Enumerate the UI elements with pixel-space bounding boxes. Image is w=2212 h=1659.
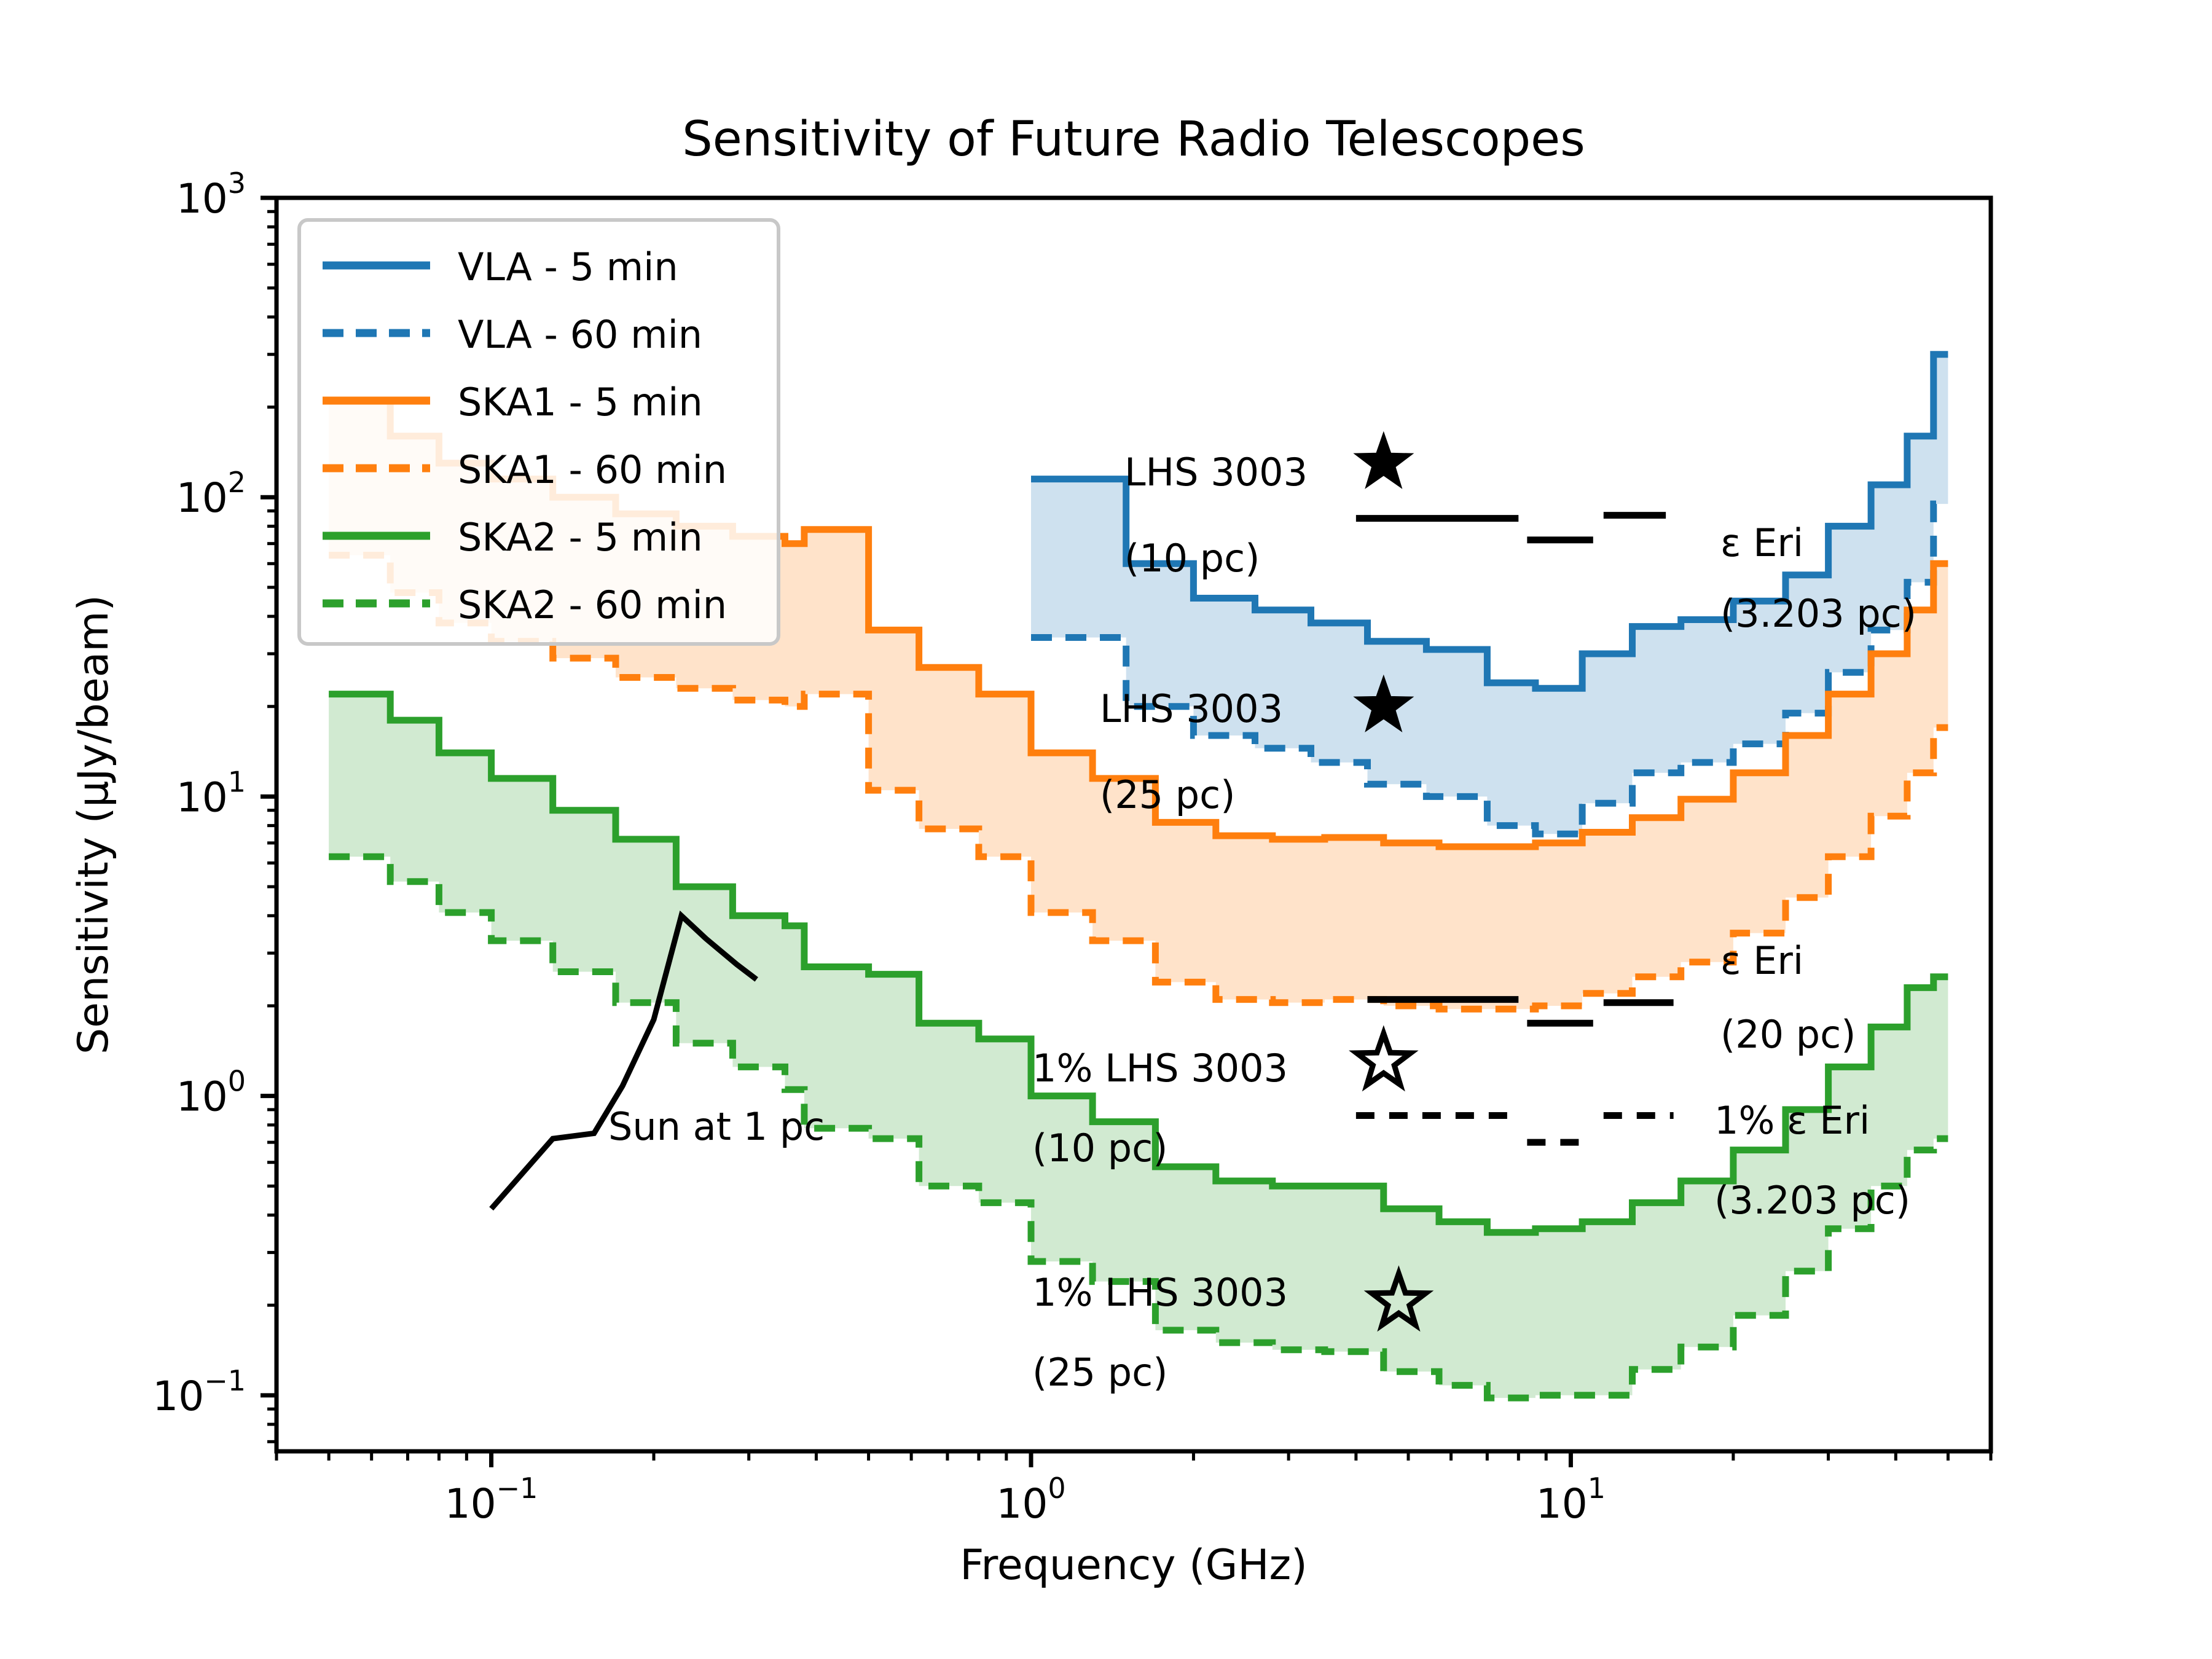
legend-label: VLA - 60 min — [458, 312, 702, 357]
annotation-pct1-lhs3003-25pc-sub: (25 pc) — [1032, 1350, 1167, 1395]
annotation-eps-eri-3203pc-sub: (3.203 pc) — [1720, 591, 1916, 636]
annotation-pct1-eps-eri-3203pc-sub: (3.203 pc) — [1714, 1178, 1910, 1223]
legend[interactable]: VLA - 5 minVLA - 60 minSKA1 - 5 minSKA1 … — [299, 220, 779, 644]
legend-label: SKA1 - 60 min — [458, 447, 727, 492]
legend-label: SKA1 - 5 min — [458, 380, 703, 425]
x-axis-label: Frequency (GHz) — [960, 1541, 1307, 1590]
annotation-pct1-lhs3003-25pc: 1% LHS 3003 — [1032, 1270, 1288, 1315]
annotation-sun-at-1pc: Sun at 1 pc — [608, 1104, 825, 1149]
annotation-eps-eri-20pc-sub: (20 pc) — [1720, 1012, 1856, 1057]
chart-canvas: Sensitivity of Future Radio Telescopes 1… — [0, 0, 2212, 1659]
annotation-lhs3003-10pc-sub: (10 pc) — [1124, 536, 1260, 581]
annotation-lhs3003-25pc-sub: (25 pc) — [1100, 772, 1235, 817]
legend-label: VLA - 5 min — [458, 245, 678, 289]
y-axis-label: Sensitivity (μJy/beam) — [69, 595, 118, 1054]
annotation-pct1-lhs3003-10pc: 1% LHS 3003 — [1032, 1046, 1288, 1091]
annotation-lhs3003-25pc: LHS 3003 — [1100, 686, 1283, 731]
page-title: Sensitivity of Future Radio Telescopes — [682, 112, 1585, 167]
annotation-pct1-lhs3003-10pc-sub: (10 pc) — [1032, 1126, 1167, 1171]
sensitivity-plot: Sensitivity of Future Radio Telescopes 1… — [0, 0, 2212, 1659]
legend-label: SKA2 - 5 min — [458, 515, 703, 560]
annotation-eps-eri-20pc: ε Eri — [1720, 938, 1803, 983]
annotation-pct1-eps-eri-3203pc: 1% ε Eri — [1714, 1098, 1870, 1143]
annotation-lhs3003-10pc: LHS 3003 — [1124, 450, 1308, 495]
legend-label: SKA2 - 60 min — [458, 582, 727, 627]
annotation-eps-eri-3203pc: ε Eri — [1720, 520, 1803, 565]
